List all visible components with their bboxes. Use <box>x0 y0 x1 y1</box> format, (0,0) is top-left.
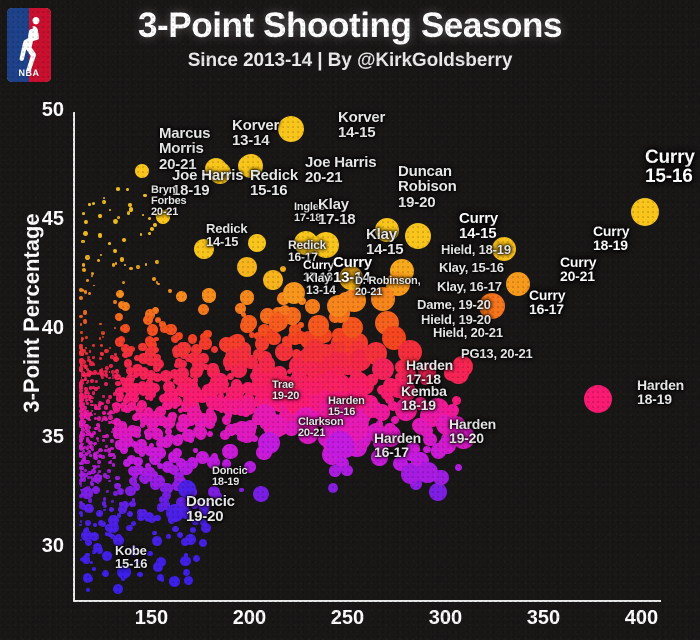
data-point <box>114 327 116 329</box>
data-point <box>341 465 352 476</box>
data-point <box>126 188 129 191</box>
data-point <box>79 511 83 515</box>
data-point <box>304 343 323 362</box>
data-point <box>126 525 133 532</box>
data-point <box>92 372 95 375</box>
data-point <box>104 370 107 373</box>
data-point <box>116 187 120 191</box>
data-point <box>169 576 180 587</box>
data-point <box>429 483 448 502</box>
data-point <box>105 475 109 479</box>
annotation-label: PG13, 20-21 <box>461 347 533 360</box>
data-point <box>98 429 101 432</box>
data-point <box>79 524 82 527</box>
data-point <box>147 551 153 557</box>
data-point <box>308 315 328 335</box>
data-point <box>145 336 154 345</box>
data-point <box>98 233 103 238</box>
data-point <box>92 202 95 205</box>
data-point <box>417 462 437 482</box>
data-point <box>83 231 88 236</box>
annotation-label: Hield, 20-21 <box>433 326 503 339</box>
data-point <box>97 465 100 468</box>
data-point <box>148 447 159 458</box>
data-point <box>94 471 96 473</box>
annotation-label: Harden 19-20 <box>449 417 496 446</box>
data-point <box>115 262 118 265</box>
data-point-ingles-17-18 <box>248 234 266 252</box>
data-point <box>93 363 96 366</box>
data-point <box>109 209 111 211</box>
data-point <box>143 194 146 197</box>
data-point-doncic-19-20 <box>166 504 184 522</box>
data-point <box>93 285 95 287</box>
data-point <box>111 500 114 503</box>
data-point <box>211 346 218 353</box>
annotation-label: Redick 15-16 <box>250 168 298 199</box>
data-point <box>101 331 105 335</box>
data-point <box>152 531 156 535</box>
data-point <box>104 382 108 386</box>
data-point <box>90 404 92 406</box>
data-point <box>199 337 212 350</box>
data-point <box>240 290 255 305</box>
data-point <box>89 433 93 437</box>
data-point <box>92 567 97 572</box>
data-point <box>88 419 91 422</box>
data-point <box>231 423 240 432</box>
data-point <box>225 365 230 370</box>
data-point <box>383 378 398 393</box>
data-point <box>455 464 463 472</box>
data-point <box>89 386 93 390</box>
annotation-label: Korver 13-14 <box>232 118 279 149</box>
data-point <box>82 212 85 215</box>
annotation-label: Marcus Morris 20-21 <box>159 126 210 172</box>
data-point <box>90 379 95 384</box>
data-point <box>80 352 84 356</box>
data-point <box>97 259 100 262</box>
data-point <box>93 442 97 446</box>
data-point <box>328 483 338 493</box>
data-point <box>98 454 102 458</box>
data-point <box>88 203 91 206</box>
annotation-label: Klay, 16-17 <box>437 280 502 293</box>
data-point <box>79 315 82 318</box>
data-point <box>97 440 99 442</box>
annotation-label: Joe Harris 20-21 <box>305 155 376 186</box>
data-point <box>225 349 241 365</box>
data-point <box>153 347 160 354</box>
annotation-label: Klay 14-15 <box>366 227 403 258</box>
data-point <box>80 479 82 481</box>
data-point <box>225 412 232 419</box>
data-point <box>102 411 105 414</box>
data-point <box>150 227 154 231</box>
data-point <box>153 373 162 382</box>
data-point <box>99 323 101 325</box>
annotation-label: Kemba 18-19 <box>401 384 447 413</box>
data-point <box>118 427 126 435</box>
data-point-clarkson-20-21 <box>258 432 280 454</box>
data-point <box>84 391 87 394</box>
data-point <box>85 520 91 526</box>
annotation-label: Doncic 19-20 <box>186 494 235 525</box>
data-point-harden-18-19 <box>584 385 612 413</box>
x-tick-350: 350 <box>513 607 573 630</box>
data-point <box>205 410 216 421</box>
data-point <box>113 392 116 395</box>
data-point <box>232 384 239 391</box>
data-point <box>129 207 133 211</box>
data-point <box>305 299 320 314</box>
data-point <box>89 454 92 457</box>
data-point <box>98 407 101 410</box>
data-point <box>166 534 171 539</box>
data-point <box>198 304 209 315</box>
data-point <box>84 504 93 513</box>
data-point <box>91 410 93 412</box>
data-point <box>335 342 346 353</box>
data-point <box>113 356 119 362</box>
data-point <box>83 310 87 314</box>
annotation-label: Duncan Robison 19-20 <box>398 164 457 210</box>
data-point <box>241 315 256 330</box>
x-tick-300: 300 <box>415 607 475 630</box>
data-point <box>88 498 92 502</box>
data-point <box>94 387 98 391</box>
data-point <box>80 461 84 465</box>
data-point <box>176 291 188 303</box>
data-point <box>145 432 153 440</box>
data-point <box>93 474 102 483</box>
chart-root: NBA 3-Point Shooting Seasons Since 2013-… <box>0 0 700 640</box>
data-point <box>167 414 177 424</box>
y-tick-45: 45 <box>16 208 64 231</box>
data-point <box>82 263 86 267</box>
data-point <box>127 511 133 517</box>
data-point <box>280 266 286 272</box>
data-point-pg13-20-21 <box>372 358 394 380</box>
data-point <box>124 359 132 367</box>
data-point <box>79 447 83 451</box>
data-point <box>102 200 106 204</box>
data-point <box>108 522 119 533</box>
annotation-label: Redick 14-15 <box>206 222 247 249</box>
data-point <box>181 538 189 546</box>
data-point <box>259 356 275 372</box>
data-point <box>141 476 148 483</box>
data-point-d-robinson-20-21 <box>327 295 349 317</box>
data-point <box>125 407 131 413</box>
data-point <box>115 381 121 387</box>
data-point <box>122 238 126 242</box>
data-point <box>124 264 126 266</box>
data-point <box>125 486 136 497</box>
data-point <box>102 419 104 421</box>
data-point <box>109 364 113 368</box>
data-point <box>102 336 104 338</box>
data-point <box>160 486 166 492</box>
data-point-marcus-morris-20-21 <box>135 164 149 178</box>
data-point-curry-20-21 <box>506 272 530 296</box>
data-point <box>95 380 99 384</box>
data-point <box>81 460 83 462</box>
data-point <box>207 363 218 374</box>
data-point <box>253 486 269 502</box>
data-point <box>90 400 93 403</box>
data-point <box>185 354 193 362</box>
data-point <box>80 323 83 326</box>
data-point <box>93 467 96 470</box>
data-point <box>83 319 87 323</box>
y-tick-40: 40 <box>16 317 64 340</box>
x-tick-400: 400 <box>611 607 671 630</box>
data-point <box>113 249 117 253</box>
data-point <box>102 501 106 505</box>
data-point <box>147 324 158 335</box>
data-point <box>153 223 157 227</box>
data-point <box>103 497 106 500</box>
data-point <box>374 404 391 421</box>
data-point <box>80 501 82 503</box>
data-point <box>93 523 97 527</box>
data-point <box>207 431 213 437</box>
data-point-curry-17-18 <box>263 270 283 290</box>
data-point <box>79 422 83 426</box>
annotation-label: Trae 19-20 <box>272 380 299 402</box>
annotation-label: Curry 15-16 <box>645 148 695 187</box>
data-point <box>108 377 110 379</box>
data-point <box>85 336 88 339</box>
data-point <box>81 397 84 400</box>
data-point <box>108 415 112 419</box>
data-point <box>79 296 83 300</box>
data-point <box>92 356 95 359</box>
data-point <box>99 337 101 339</box>
data-point <box>117 488 124 495</box>
annotation-label: Curry 18-19 <box>593 224 629 253</box>
data-point <box>175 358 183 366</box>
data-point <box>98 470 101 473</box>
data-point <box>112 463 116 467</box>
data-point <box>156 557 166 567</box>
data-point <box>104 349 108 353</box>
data-point <box>431 448 439 456</box>
x-tick-250: 250 <box>317 607 377 630</box>
data-point <box>239 422 256 439</box>
data-point <box>79 359 82 362</box>
data-point <box>184 576 193 585</box>
data-point <box>84 220 88 224</box>
data-point <box>80 471 84 475</box>
data-point <box>117 513 121 517</box>
data-point <box>130 389 138 397</box>
data-point <box>165 324 177 336</box>
data-point <box>92 391 95 394</box>
data-point-trae-19-20 <box>254 404 276 426</box>
data-point <box>142 354 152 364</box>
data-point <box>112 458 114 460</box>
data-point <box>85 559 90 564</box>
data-point <box>177 532 183 538</box>
data-point <box>94 406 98 410</box>
data-point <box>188 436 194 442</box>
data-point <box>113 584 123 594</box>
data-point-korver-14-15 <box>278 116 304 142</box>
data-point <box>86 279 89 282</box>
data-point <box>99 357 102 360</box>
data-point <box>108 480 110 482</box>
data-point <box>142 214 144 216</box>
data-point <box>161 437 172 448</box>
annotation-label: Doncic 18-19 <box>212 466 247 488</box>
data-point <box>152 536 162 546</box>
data-point <box>237 408 245 416</box>
data-point <box>129 501 136 508</box>
data-point <box>82 268 87 273</box>
data-point <box>155 260 159 264</box>
annotation-label: Kobe 15-16 <box>115 544 147 571</box>
data-point <box>128 203 132 207</box>
data-point <box>103 197 105 199</box>
data-point <box>148 232 151 235</box>
data-point <box>127 425 138 436</box>
annotation-label: Curry 14-15 <box>459 211 498 242</box>
data-point <box>102 395 105 398</box>
data-point <box>136 265 140 269</box>
data-point <box>83 379 86 382</box>
data-point <box>366 349 374 357</box>
data-point <box>81 487 93 499</box>
data-point <box>119 502 123 506</box>
data-point <box>94 413 96 415</box>
data-point <box>129 267 133 271</box>
data-point <box>85 399 88 402</box>
data-point <box>121 324 130 333</box>
data-point <box>285 341 292 348</box>
data-point <box>172 345 184 357</box>
data-point <box>190 527 196 533</box>
data-point <box>86 412 89 415</box>
data-point <box>145 263 148 266</box>
data-point <box>228 335 242 349</box>
data-point <box>125 443 130 448</box>
data-point <box>92 344 95 347</box>
annotation-label: Curry 16-17 <box>529 288 565 317</box>
data-point <box>102 551 112 561</box>
data-point <box>329 465 340 476</box>
data-point <box>85 255 90 260</box>
annotation-label: Bryn Forbes 20-21 <box>151 185 186 219</box>
data-point <box>81 428 83 430</box>
x-tick-200: 200 <box>219 607 279 630</box>
data-point <box>80 331 83 334</box>
data-point <box>100 344 103 347</box>
data-point-curry-15-16 <box>631 198 659 226</box>
data-point <box>137 572 142 577</box>
data-point <box>88 292 91 295</box>
chart-title: 3-Point Shooting Seasons <box>0 6 700 46</box>
data-point <box>92 486 100 494</box>
data-point <box>103 509 106 512</box>
data-point <box>115 369 119 373</box>
data-point <box>134 444 145 455</box>
data-point <box>120 257 125 262</box>
data-point <box>100 254 102 256</box>
data-point <box>199 539 207 547</box>
x-tick-150: 150 <box>121 607 181 630</box>
data-point <box>84 290 88 294</box>
data-point <box>104 405 108 409</box>
annotation-label: Dame, 19-20 <box>417 298 491 311</box>
data-point <box>96 510 103 517</box>
data-point <box>108 411 112 415</box>
data-point <box>114 374 120 380</box>
data-point <box>183 569 190 576</box>
data-point <box>172 526 178 532</box>
data-point <box>132 498 135 501</box>
data-point <box>175 332 183 340</box>
data-point <box>93 543 102 552</box>
data-point <box>140 233 142 235</box>
data-point <box>133 457 143 467</box>
annotation-label: Hield, 18-19 <box>441 243 511 256</box>
data-point <box>107 448 111 452</box>
data-point <box>79 386 82 389</box>
data-point <box>153 359 163 369</box>
data-point <box>85 460 89 464</box>
y-tick-50: 50 <box>16 99 64 122</box>
data-point <box>175 434 183 442</box>
annotation-label: Harden 18-19 <box>637 378 684 407</box>
data-point <box>87 380 90 383</box>
data-point <box>132 414 140 422</box>
data-point <box>228 448 238 458</box>
data-point <box>294 331 307 344</box>
data-point <box>81 339 83 341</box>
data-point <box>105 434 109 438</box>
data-point <box>79 399 83 403</box>
data-point <box>113 300 117 304</box>
data-point <box>134 355 140 361</box>
annotation-label: Klay 17-18 <box>318 197 355 228</box>
data-point <box>91 275 93 277</box>
y-tick-35: 35 <box>16 426 64 449</box>
annotation-label: Harden 16-17 <box>374 431 421 460</box>
data-point <box>266 330 279 343</box>
data-point <box>89 350 92 353</box>
data-point <box>168 289 172 293</box>
data-point <box>161 578 165 582</box>
data-point-redick-16-17 <box>237 257 257 277</box>
data-point <box>141 509 147 515</box>
data-point <box>202 288 217 303</box>
data-point <box>110 439 114 443</box>
data-point <box>87 434 89 436</box>
data-point <box>115 313 123 321</box>
data-point <box>102 439 105 442</box>
data-point <box>113 219 118 224</box>
data-point <box>115 476 120 481</box>
annotation-label: Clarkson 20-21 <box>298 417 343 439</box>
data-point <box>100 352 103 355</box>
data-point <box>89 397 91 399</box>
data-point <box>115 337 124 346</box>
data-point <box>106 399 110 403</box>
data-point <box>108 461 111 464</box>
data-point <box>109 507 114 512</box>
